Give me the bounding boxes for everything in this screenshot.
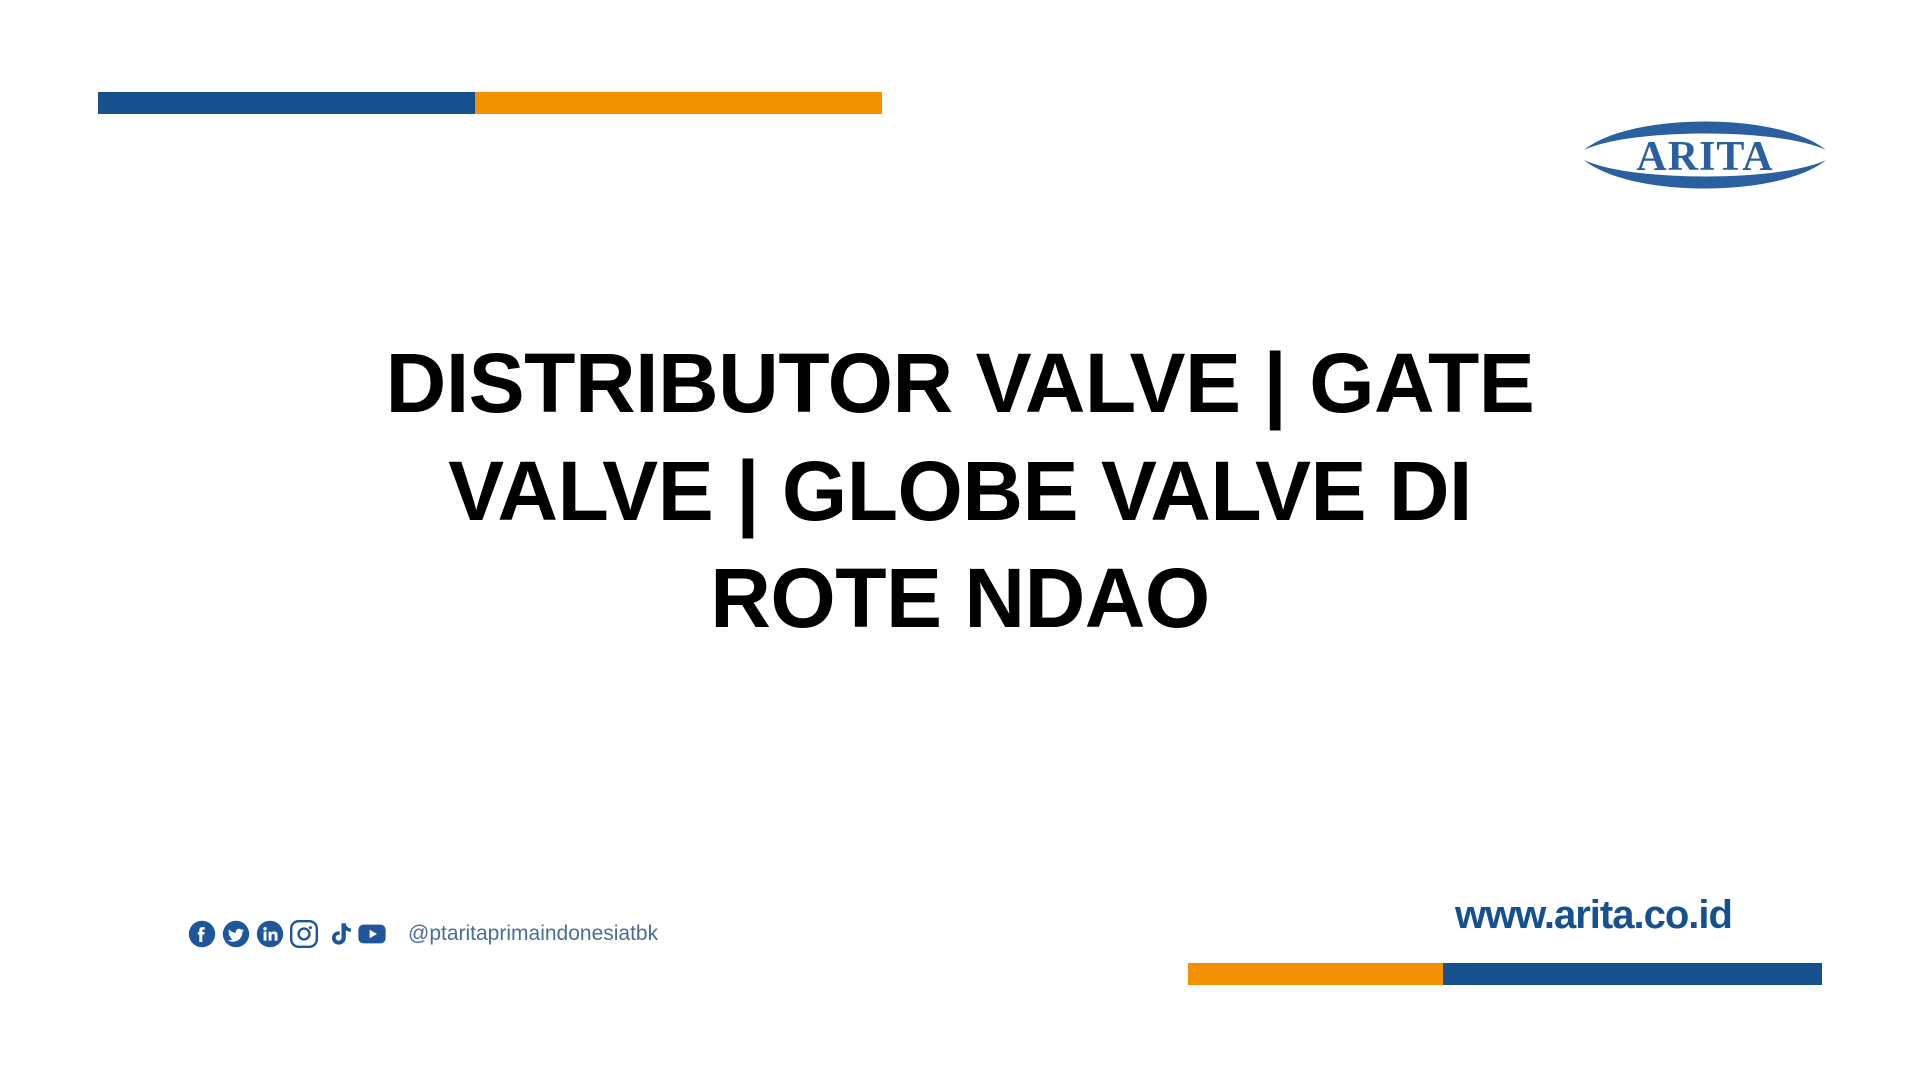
facebook-icon[interactable] [188, 920, 216, 948]
arita-logo: ARITA [1580, 108, 1830, 202]
instagram-icon[interactable] [290, 920, 318, 948]
accent-bar-top-blue-segment [98, 92, 475, 114]
youtube-icon[interactable] [358, 920, 386, 948]
website-url[interactable]: www.arita.co.id [1455, 893, 1732, 938]
accent-bar-bottom [1188, 963, 1822, 985]
tiktok-icon[interactable] [324, 920, 352, 948]
accent-bar-bottom-blue-segment [1443, 963, 1822, 985]
svg-text:ARITA: ARITA [1636, 134, 1773, 180]
page-title-line-2: VALVE | GLOBE VALVE DI [260, 438, 1660, 546]
accent-bar-bottom-orange-segment [1188, 963, 1443, 985]
linkedin-icon[interactable] [256, 920, 284, 948]
page-title-line-3: ROTE NDAO [260, 545, 1660, 653]
social-handle: @ptaritaprimaindonesiatbk [408, 922, 658, 946]
accent-bar-top [98, 92, 882, 114]
page-title: DISTRIBUTOR VALVE | GATE VALVE | GLOBE V… [260, 330, 1660, 653]
twitter-icon[interactable] [222, 920, 250, 948]
social-media-row: @ptaritaprimaindonesiatbk [188, 920, 658, 948]
accent-bar-top-orange-segment [475, 92, 882, 114]
page-title-line-1: DISTRIBUTOR VALVE | GATE [260, 330, 1660, 438]
slide-canvas: ARITA DISTRIBUTOR VALVE | GATE VALVE | G… [0, 0, 1920, 1080]
